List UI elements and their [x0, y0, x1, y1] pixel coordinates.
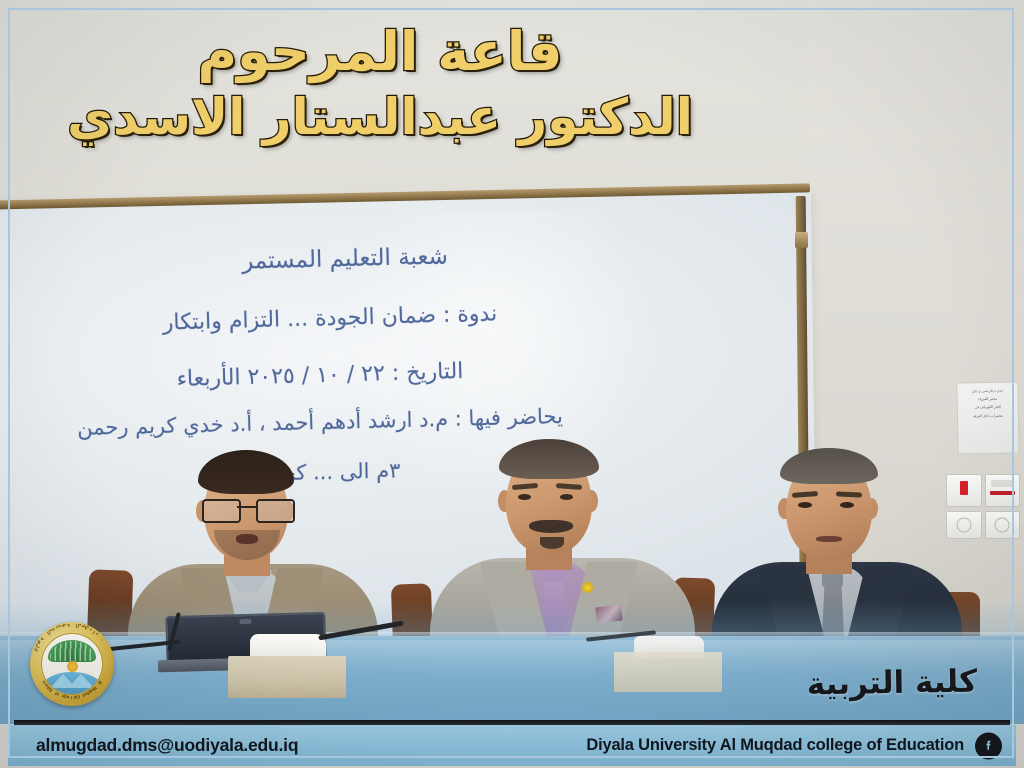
whiteboard-clip: [795, 232, 808, 248]
person-right-eye-right: [840, 502, 854, 508]
person-left-hair: [198, 450, 294, 494]
person-right-hair: [780, 448, 878, 484]
lapel-pin-icon: [582, 582, 593, 593]
person-right-eye-left: [798, 502, 812, 508]
event-banner-photo: قاعة المرحوم الدكتور عبدالستار الاسدي شع…: [0, 0, 1024, 768]
tissue-box: [228, 656, 346, 698]
contact-email[interactable]: almugdad.dms@uodiyala.edu.iq: [36, 735, 298, 756]
wall-notice-paper: خدي م الرحمن ي بابل مختبر الفيزياء التيا…: [956, 381, 1019, 454]
person-center-mustache: [529, 520, 573, 533]
college-name-calligraphy: كلية التربية المقداد: [770, 654, 1015, 712]
person-center-pocket-square: [595, 605, 623, 624]
footer-bar: almugdad.dms@uodiyala.edu.iq Diyala Univ…: [8, 725, 1016, 766]
papers-stack: [614, 652, 722, 692]
logo-hill-right: [68, 674, 94, 688]
hall-title-line-2: الدكتور عبدالستار الاسدي: [60, 91, 700, 144]
person-center-eye-left: [518, 494, 531, 500]
facebook-icon[interactable]: [975, 732, 1002, 759]
university-name: Diyala University Al Muqdad college of E…: [586, 736, 964, 755]
person-center: [430, 440, 695, 655]
hall-title-line-1: قاعة المرحوم: [60, 24, 700, 81]
wall-notice-line-4: مختبرات داخل الغرفة: [961, 411, 1015, 420]
eyeglasses-icon: [201, 499, 293, 519]
person-left-mouth: [236, 534, 258, 544]
person-right-tie-knot: [822, 572, 843, 587]
person-center-eye-right: [560, 494, 573, 500]
person-center-chin-beard: [540, 537, 564, 549]
power-socket-right: [985, 511, 1021, 539]
college-logo-emblem: [41, 633, 103, 695]
table-front-edge: [0, 632, 1024, 638]
college-logo: كلية التربية المقداد -Al Muqdad College …: [30, 622, 114, 706]
logo-sun-icon: [67, 661, 78, 672]
rcd-switch: [985, 474, 1021, 507]
person-right-mouth: [816, 536, 842, 542]
person-center-hair: [499, 439, 599, 479]
person-right: [712, 450, 962, 655]
hall-title: قاعة المرحوم الدكتور عبدالستار الاسدي: [60, 24, 700, 143]
